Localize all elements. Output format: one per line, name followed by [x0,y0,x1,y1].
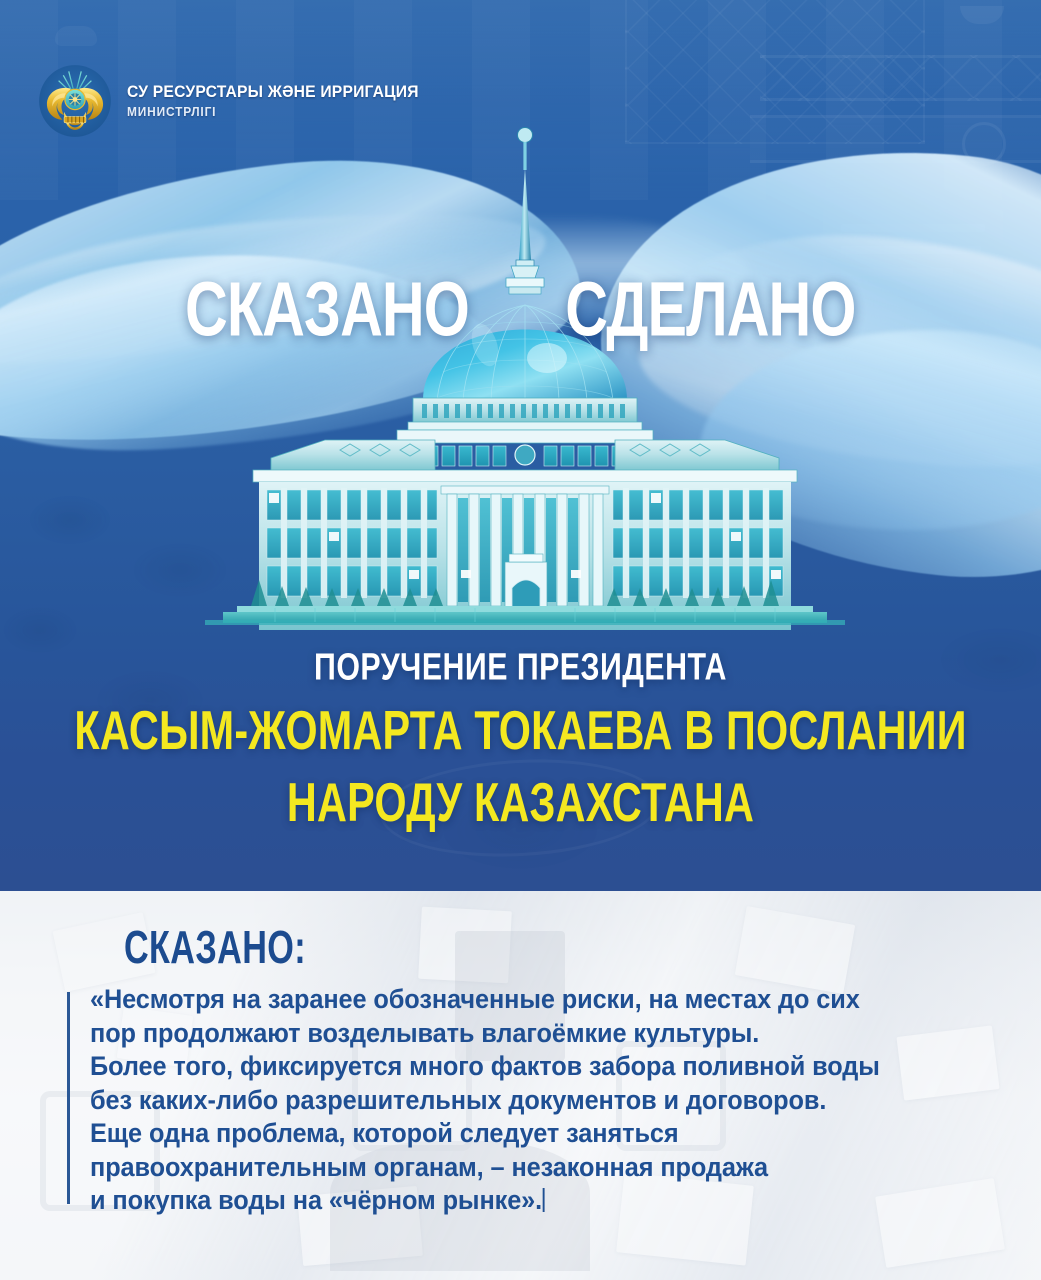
hall-lamp-secondary-icon [55,26,97,46]
quote-body-text: «Несмотря на заранее обозначенные риски,… [90,983,978,1218]
quote-body-span: «Несмотря на заранее обозначенные риски,… [90,984,880,1215]
ministry-logo[interactable]: СУ РЕСУРСТАРЫ ЖӘНЕ ИРРИГАЦИЯ МИНИСТРЛІГІ [36,62,434,140]
headline-done: СДЕЛАНО [565,272,855,349]
poster-root: СКАЗАНО СДЕЛАНО [0,0,1041,1280]
ministry-name-line1: СУ РЕСУРСТАРЫ ЖӘНЕ ИРРИГАЦИЯ [127,84,419,101]
subtitle-block: ПОРУЧЕНИЕ ПРЕЗИДЕНТА КАСЫМ-ЖОМАРТА ТОКАЕ… [0,650,1041,830]
headline: СКАЗАНО СДЕЛАНО [0,272,1041,335]
quote-label: СКАЗАНО: [124,925,306,971]
subtitle-kicker: ПОРУЧЕНИЕ ПРЕЗИДЕНТА [42,647,1000,688]
akorda-palace-illustration [175,110,875,630]
headline-said: СКАЗАНО [185,272,469,349]
hero-section: СКАЗАНО СДЕЛАНО [0,0,1041,891]
desk-paper [735,906,855,994]
text-caret-icon [543,1188,545,1212]
ministry-logo-text: СУ РЕСУРСТАРЫ ЖӘНЕ ИРРИГАЦИЯ МИНИСТРЛІГІ [127,84,434,118]
hall-balcony-rail [760,55,1041,101]
subtitle-main-line2: НАРОДУ КАЗАХСТАНА [52,770,989,834]
quote-accent-bar [67,992,70,1204]
ministry-name-line2: МИНИСТРЛІГІ [127,106,419,119]
kazakhstan-state-emblem-icon [36,62,114,140]
subtitle-main-line1: КАСЫМ-ЖОМАРТА ТОКАЕВА В ПОСЛАНИИ [52,698,989,762]
